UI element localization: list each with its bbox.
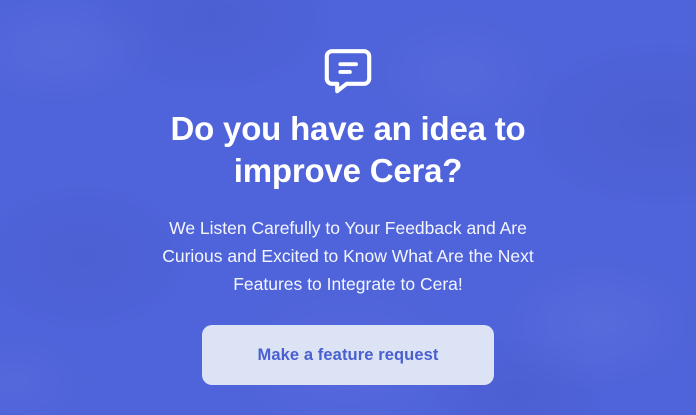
feature-request-cta-section: Do you have an idea to improve Cera? We … — [0, 0, 696, 415]
description-line-1: We Listen Carefully to Your Feedback and… — [162, 214, 534, 242]
page-title: Do you have an idea to improve Cera? — [170, 108, 525, 192]
heading-line-2: improve Cera? — [170, 150, 525, 192]
cta-description: We Listen Carefully to Your Feedback and… — [162, 214, 534, 298]
cta-content: Do you have an idea to improve Cera? We … — [0, 0, 696, 385]
description-line-3: Features to Integrate to Cera! — [162, 270, 534, 298]
chat-bubble-icon — [324, 48, 372, 94]
make-feature-request-button[interactable]: Make a feature request — [202, 325, 494, 385]
description-line-2: Curious and Excited to Know What Are the… — [162, 242, 534, 270]
heading-line-1: Do you have an idea to — [170, 108, 525, 150]
